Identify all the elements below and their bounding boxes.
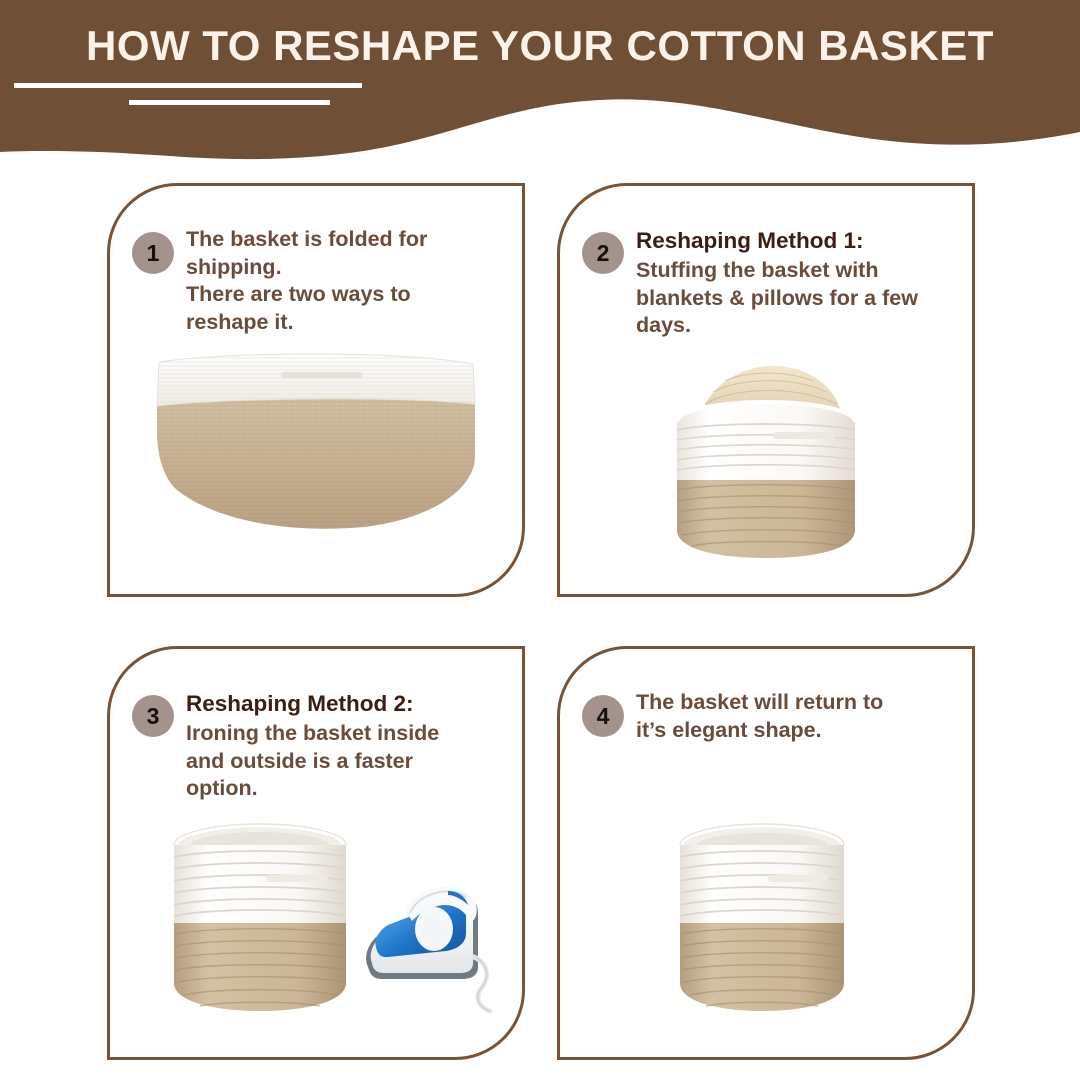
step-3-text: Reshaping Method 2: Ironing the basket i… [186, 687, 510, 803]
step-2-body-line-2: blankets & pillows for a few [636, 285, 960, 313]
step-3-body-line-2: and outside is a faster [186, 748, 510, 776]
step-panel-1: 1 The basket is folded for shipping. The… [107, 183, 525, 597]
stuffed-basket-image [651, 352, 881, 582]
step-1-text: The basket is folded for shipping. There… [186, 224, 510, 336]
step-number-badge-2: 2 [582, 232, 624, 274]
step-2-text: Reshaping Method 1: Stuffing the basket … [636, 224, 960, 340]
page-title: HOW TO RESHAPE YOUR COTTON BASKET [0, 20, 1080, 72]
title-underline-short [129, 100, 330, 105]
step-4-figure [560, 807, 972, 1057]
step-number-badge-1: 1 [132, 232, 174, 274]
step-2-body-line-3: days. [636, 312, 960, 340]
step-4-body: The basket will return to it’s elegant s… [636, 689, 960, 744]
step-4-text: The basket will return to it’s elegant s… [636, 687, 960, 744]
title-underline-long [14, 83, 362, 88]
steps-grid: 1 The basket is folded for shipping. The… [0, 176, 1080, 1080]
step-3-head: 3 Reshaping Method 2: Ironing the basket… [132, 687, 510, 803]
step-4-body-line-1: The basket will return to [636, 689, 960, 717]
step-3-heading: Reshaping Method 2: [186, 689, 510, 718]
step-2-body-line-1: Stuffing the basket with [636, 257, 960, 285]
header-band: HOW TO RESHAPE YOUR COTTON BASKET [0, 0, 1080, 176]
folded-basket-image [151, 344, 481, 544]
steam-iron-icon [366, 887, 490, 1011]
upright-basket-image [646, 801, 886, 1037]
step-number-badge-3: 3 [132, 695, 174, 737]
step-number-badge-4: 4 [582, 695, 624, 737]
step-3-body: Ironing the basket inside and outside is… [186, 720, 510, 803]
step-1-body-line-3: There are two ways to [186, 281, 510, 309]
step-2-heading: Reshaping Method 1: [636, 226, 960, 255]
step-panel-2: 2 Reshaping Method 1: Stuffing the baske… [557, 183, 975, 597]
step-panel-3: 3 Reshaping Method 2: Ironing the basket… [107, 646, 525, 1060]
step-2-head: 2 Reshaping Method 1: Stuffing the baske… [582, 224, 960, 340]
step-1-body-line-4: reshape it. [186, 309, 510, 337]
step-3-body-line-1: Ironing the basket inside [186, 720, 510, 748]
step-3-figure [110, 807, 522, 1057]
step-3-body-line-3: option. [186, 775, 510, 803]
step-2-figure [560, 344, 972, 594]
step-1-body-line-2: shipping. [186, 254, 510, 282]
step-4-head: 4 The basket will return to it’s elegant… [582, 687, 960, 744]
step-2-body: Stuffing the basket with blankets & pill… [636, 257, 960, 340]
step-1-head: 1 The basket is folded for shipping. The… [132, 224, 510, 336]
step-panel-4: 4 The basket will return to it’s elegant… [557, 646, 975, 1060]
step-4-body-line-2: it’s elegant shape. [636, 717, 960, 745]
step-1-figure [110, 344, 522, 594]
basket-with-iron-image [140, 807, 520, 1043]
step-1-body: The basket is folded for shipping. There… [186, 226, 510, 336]
step-1-body-line-1: The basket is folded for [186, 226, 510, 254]
